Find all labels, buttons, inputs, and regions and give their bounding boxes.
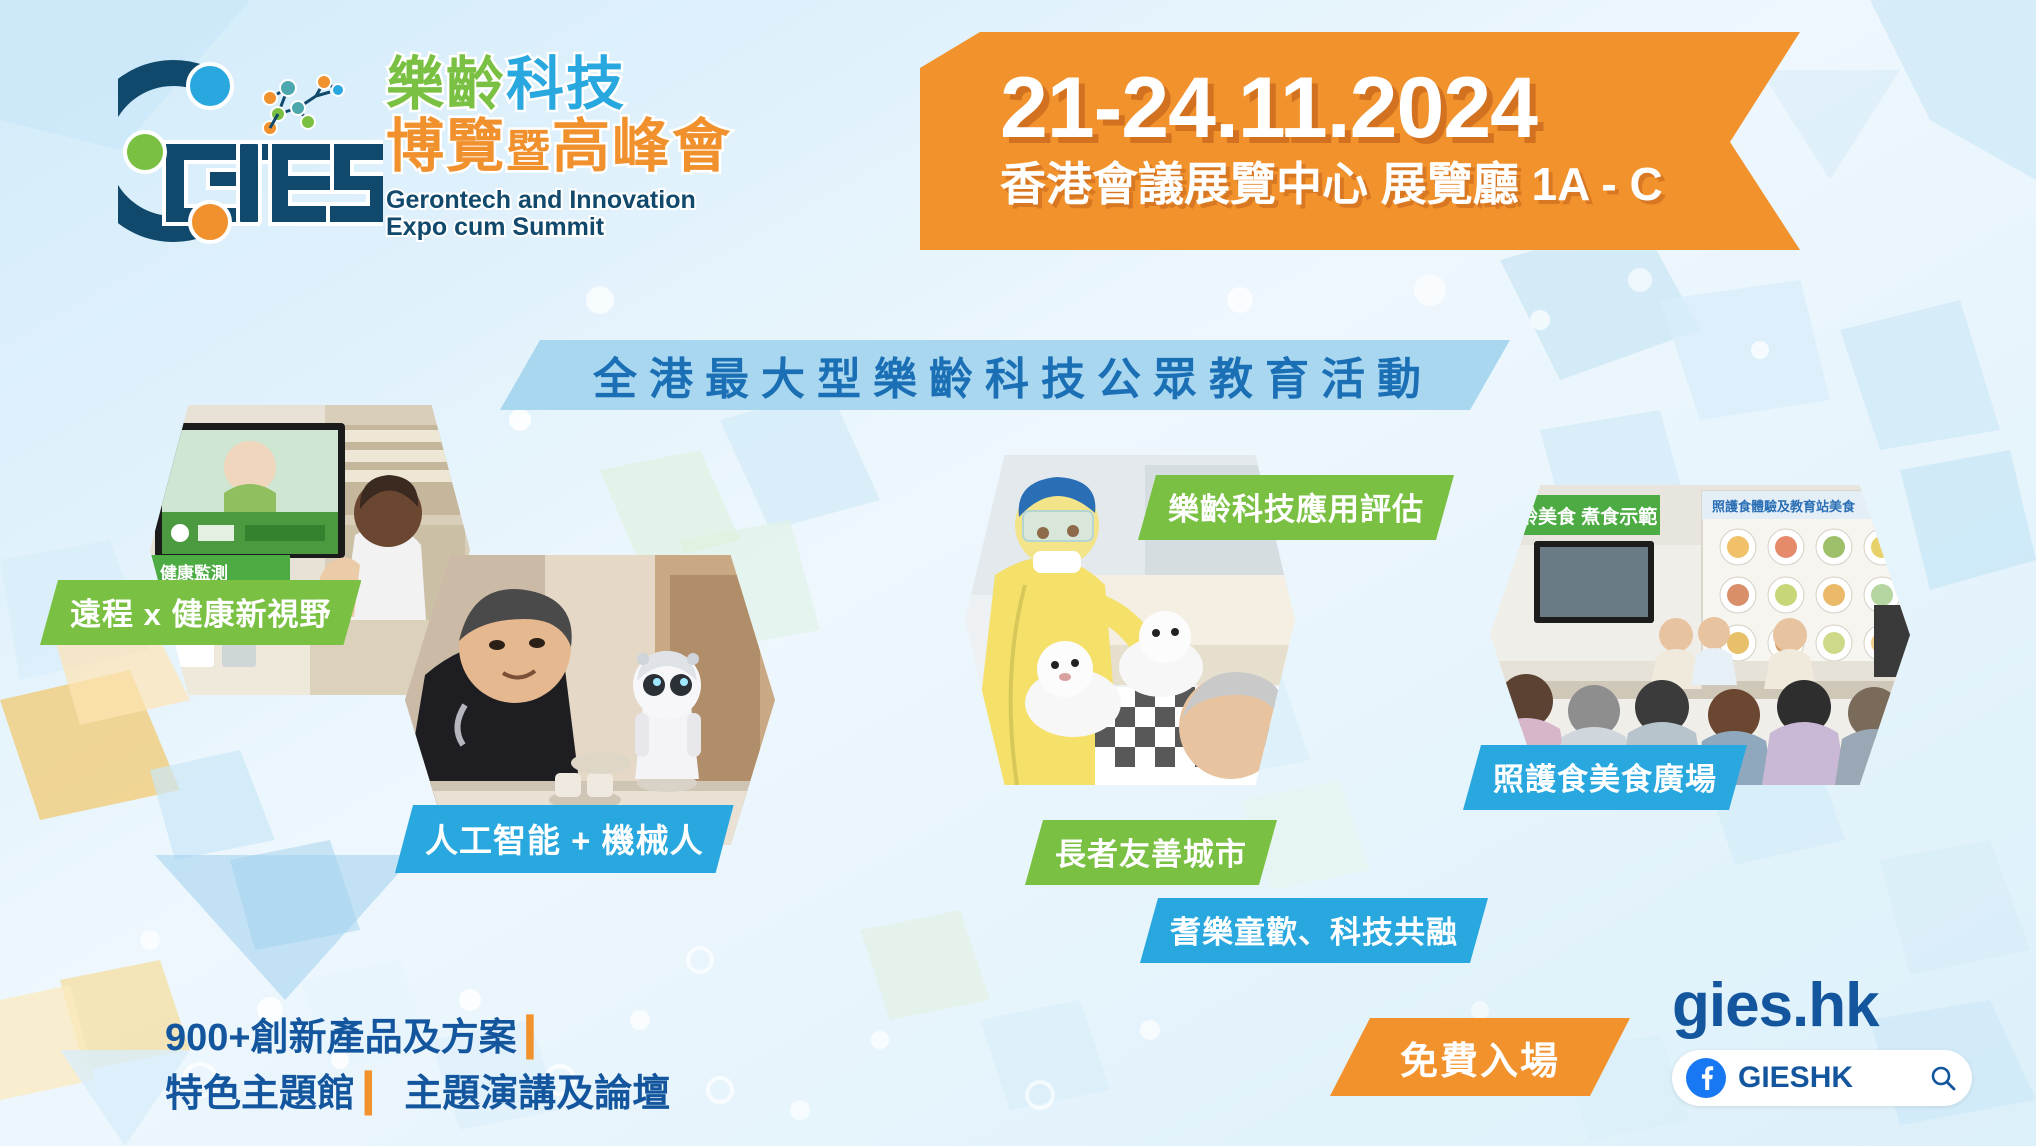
photo-ai-robot [405, 555, 775, 845]
photo-care-food: 樂齡美食 煮食示範 照護食體驗及教育站美食 [1490, 485, 1910, 785]
promo-banner: 樂齡科技 博覽暨高峰會 Gerontech and Innovation Exp… [0, 0, 2036, 1146]
gies-logo: 樂齡科技 博覽暨高峰會 Gerontech and Innovation Exp… [118, 48, 718, 263]
info-theme-pavilion: 特色主題館 [165, 1073, 355, 1115]
headline-banner: 全港最大型樂齡科技公眾教育活動 [500, 340, 1510, 410]
gies-logo-wordmark: 樂齡科技 博覽暨高峰會 Gerontech and Innovation Exp… [386, 54, 716, 269]
date-venue-banner: 21-24.11.2024 香港會議展覽中心 展覽廳 1A - C [920, 32, 1800, 250]
photo-label-intergenerational: 耆樂童歡、科技共融 [1140, 898, 1488, 963]
search-icon[interactable] [1928, 1063, 1958, 1093]
logo-cn-orange-b: 暨 [506, 127, 552, 176]
facebook-handle: GIESHK [1738, 1061, 1916, 1095]
info-separator-2: ▎ [355, 1073, 404, 1115]
facebook-icon [1686, 1058, 1726, 1098]
logo-cn-green: 樂齡 [386, 52, 506, 117]
photo-label-ai-robot: 人工智能 + 機械人 [395, 805, 734, 873]
photo-label-care-food: 照護食美食廣場 [1463, 745, 1747, 810]
logo-en-line2: Expo cum Summit [386, 214, 716, 241]
logo-cn-line2: 博覽暨高峰會 [386, 116, 716, 183]
bottom-info-block: 900+創新產品及方案▎ 特色主題館▎主題演講及論壇 [165, 1010, 670, 1122]
svg-text:照護食體驗及教育站美食: 照護食體驗及教育站美食 [1712, 499, 1856, 514]
event-dates: 21-24.11.2024 [1000, 62, 1663, 154]
info-line-1: 900+創新產品及方案▎ [165, 1010, 670, 1066]
photo-label-age-friendly-city: 長者友善城市 [1025, 820, 1277, 885]
info-talks-forums: 主題演講及論壇 [404, 1073, 670, 1115]
free-entry-label: 免費入場 [1400, 1030, 1560, 1085]
info-products: 900+創新產品及方案 [165, 1017, 517, 1059]
event-venue: 香港會議展覽中心 展覽廳 1A - C [1000, 156, 1663, 212]
logo-cn-orange-a: 博覽 [386, 114, 506, 179]
logo-cn-blue: 科技 [506, 52, 626, 117]
headline-text: 全港最大型樂齡科技公眾教育活動 [577, 343, 1433, 407]
website-url[interactable]: gies.hk [1672, 970, 1879, 1041]
facebook-badge[interactable]: GIESHK [1672, 1050, 1972, 1106]
logo-en-line1: Gerontech and Innovation [386, 187, 716, 214]
logo-cn-orange-c: 高峰會 [552, 114, 732, 179]
free-entry-badge: 免費入場 [1330, 1018, 1630, 1096]
photo-label-assessment: 樂齡科技應用評估 [1138, 475, 1454, 540]
info-separator-1: ▎ [517, 1017, 566, 1059]
info-line-2: 特色主題館▎主題演講及論壇 [165, 1066, 670, 1122]
gies-logo-mark [118, 56, 383, 246]
logo-cn-line1: 樂齡科技 [386, 54, 716, 116]
photo-label-telehealth: 遠程 x 健康新視野 [40, 580, 361, 645]
